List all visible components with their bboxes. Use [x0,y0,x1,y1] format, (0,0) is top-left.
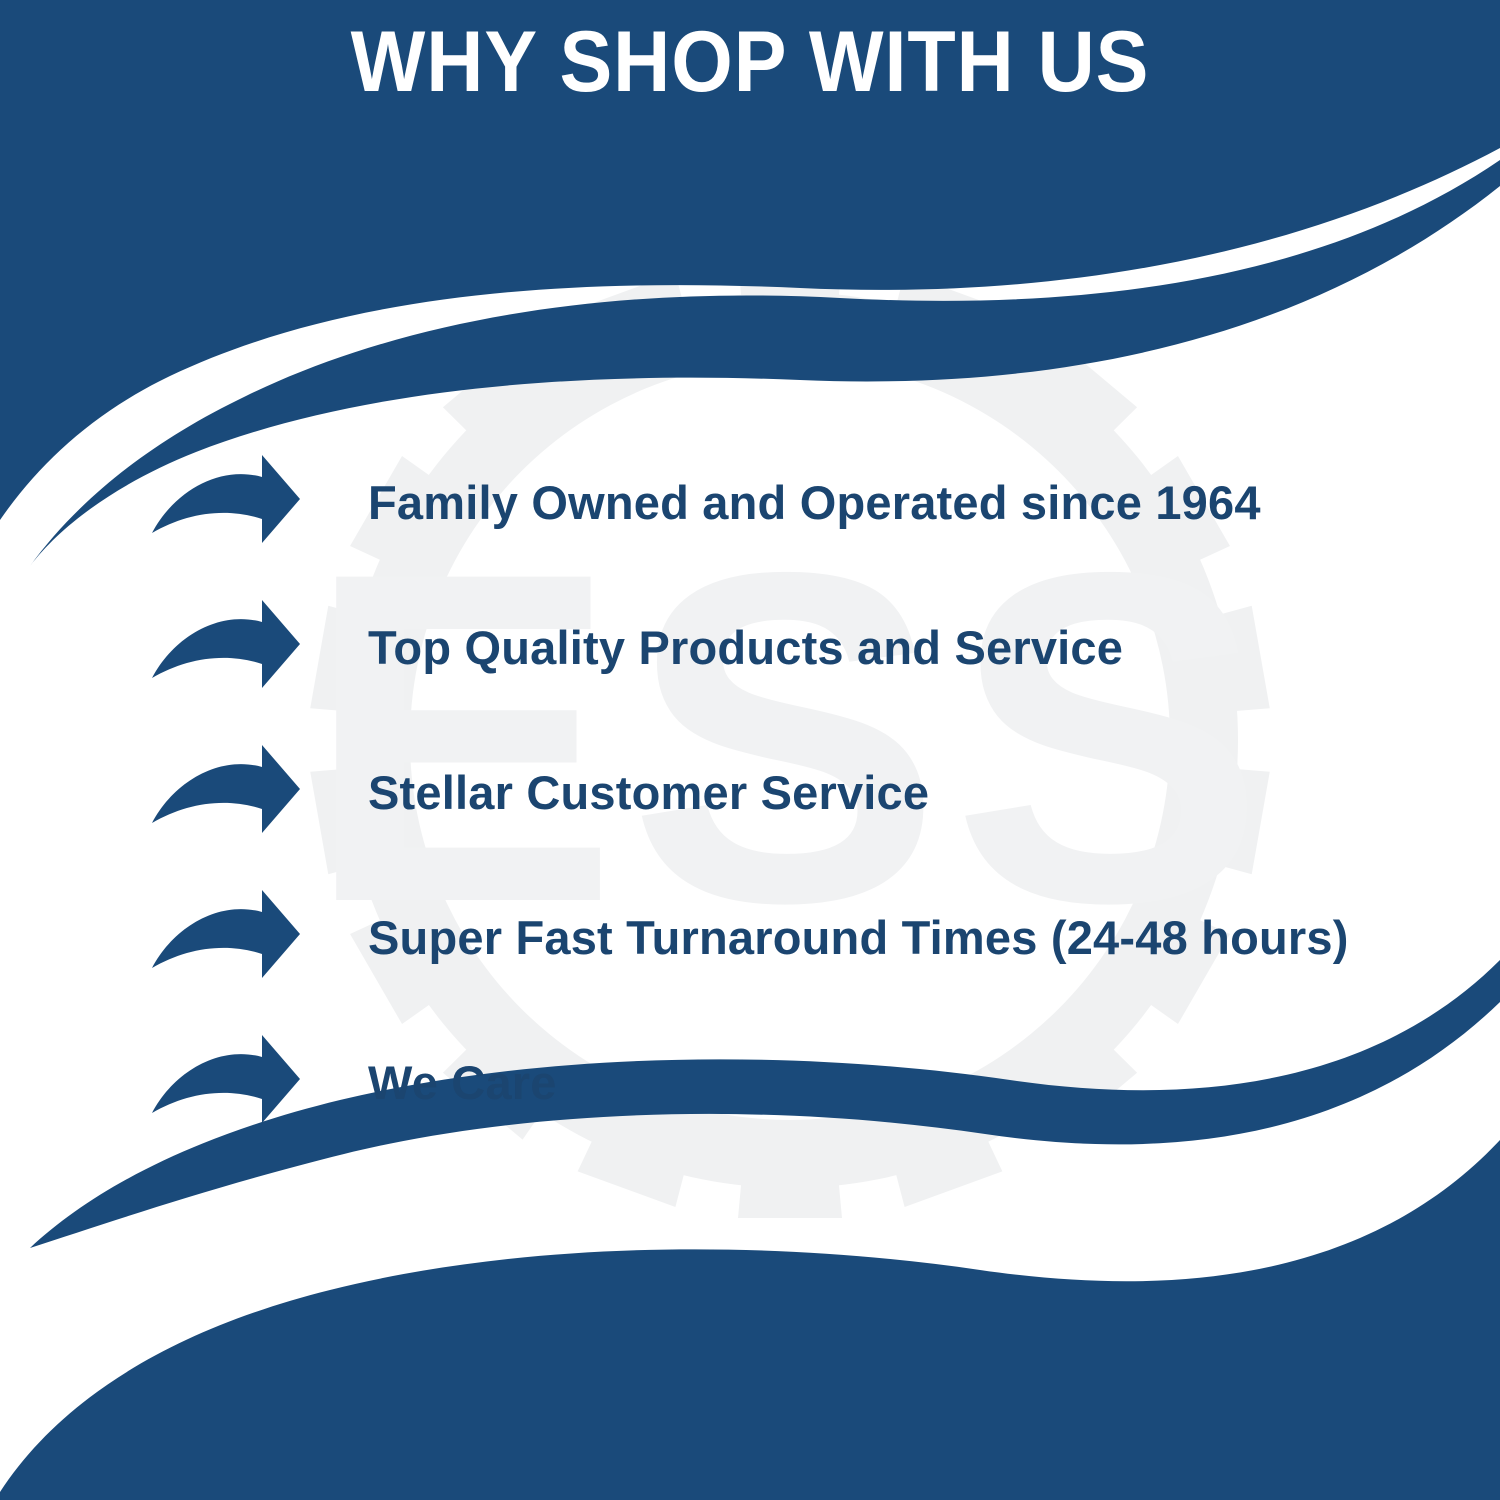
curved-arrow-right-icon [150,1035,300,1131]
list-item: Top Quality Products and Service [150,575,1450,720]
list-item-label: Top Quality Products and Service [368,621,1123,675]
list-item-label: Stellar Customer Service [368,766,929,820]
curved-arrow-right-icon [150,600,300,696]
list-item-label: Family Owned and Operated since 1964 [368,476,1261,530]
curved-arrow-right-icon [150,455,300,551]
list-item-label: Super Fast Turnaround Times (24-48 hours… [368,911,1349,965]
list-item: We Care [150,1010,1450,1155]
list-item: Stellar Customer Service [150,720,1450,865]
bottom-wave-main [0,1140,1500,1500]
curved-arrow-right-icon [150,745,300,841]
list-item-label: We Care [368,1056,557,1110]
why-shop-with-us-poster: ESS WHY SHOP WITH US Family [0,0,1500,1500]
benefits-list: Family Owned and Operated since 1964 Top… [150,430,1450,1155]
list-item: Family Owned and Operated since 1964 [150,430,1450,575]
page-title: WHY SHOP WITH US [60,12,1440,112]
curved-arrow-right-icon [150,890,300,986]
list-item: Super Fast Turnaround Times (24-48 hours… [150,865,1450,1010]
